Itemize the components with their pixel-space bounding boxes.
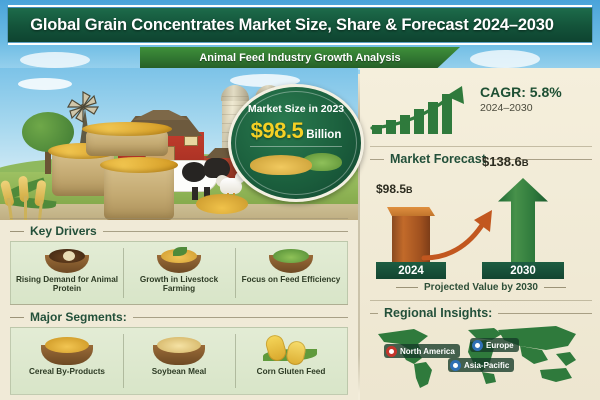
header-bottom-rule — [8, 43, 592, 45]
map-pin-north-america[interactable]: North America — [384, 344, 460, 358]
key-drivers-heading: Key Drivers — [10, 224, 348, 238]
corn-cobs-icon — [261, 333, 321, 365]
major-segment-label: Soybean Meal — [149, 367, 210, 376]
bar-2030-value: $138.6B — [482, 154, 529, 169]
bar-2024-label: 2024 — [376, 262, 446, 279]
key-driver-card[interactable]: Focus on Feed Efficiency — [235, 242, 347, 304]
pin-label: Europe — [486, 341, 514, 350]
regional-insights-title: Regional Insights: — [384, 306, 492, 320]
major-segment-label: Corn Gluten Feed — [254, 367, 329, 376]
pin-label: Asia-Pacific — [464, 361, 509, 370]
market-size-badge: Market Size in 2023 $98.5 Billion — [228, 84, 364, 202]
major-segments-title: Major Segments: — [30, 310, 127, 324]
key-drivers-title: Key Drivers — [30, 224, 97, 238]
pin-marker-icon — [472, 340, 483, 351]
major-segment-label: Cereal By-Products — [26, 367, 108, 376]
plate-of-feed-icon — [41, 247, 93, 273]
infographic-canvas: Global Grain Concentrates Market Size, S… — [0, 0, 600, 400]
cagr-block: CAGR: 5.8% 2024–2030 — [370, 80, 592, 136]
header-top-rule — [8, 5, 592, 7]
growth-curve-arrow — [420, 208, 512, 264]
pin-marker-icon — [450, 360, 461, 371]
regional-insights-block: Regional Insights: — [370, 306, 592, 392]
pin-marker-icon — [386, 346, 397, 357]
right-panel-content: CAGR: 5.8% 2024–2030 Market Forecast $98… — [360, 68, 600, 400]
key-drivers-cards: Rising Demand for Animal Protein Growth … — [10, 241, 348, 305]
key-driver-card[interactable]: Growth in Livestock Farming — [123, 242, 235, 304]
regional-insights-heading: Regional Insights: — [370, 306, 592, 320]
grain-sack-icon — [104, 166, 174, 220]
key-driver-label: Rising Demand for Animal Protein — [11, 275, 123, 294]
cagr-label: CAGR: 5.8% — [480, 84, 562, 100]
plate-of-peas-icon — [265, 247, 317, 273]
major-segment-card[interactable]: Cereal By-Products — [11, 328, 123, 394]
map-pin-europe[interactable]: Europe — [470, 338, 519, 352]
cagr-period: 2024–2030 — [480, 102, 562, 114]
plate-of-grain-icon — [153, 247, 205, 273]
major-segment-card[interactable]: Soybean Meal — [123, 328, 235, 394]
grain-and-peas-icon — [244, 151, 348, 177]
major-segments-block: Major Segments: Cereal By-Products Soybe… — [10, 310, 348, 395]
major-segments-heading: Major Segments: — [10, 310, 348, 324]
major-segments-cards: Cereal By-Products Soybean Meal Corn Glu… — [10, 327, 348, 395]
grain-heap-icon — [86, 130, 168, 156]
pin-label: North America — [400, 347, 455, 356]
map-pin-asia-pacific[interactable]: Asia-Pacific — [448, 358, 514, 372]
major-segment-card[interactable]: Corn Gluten Feed — [235, 328, 347, 394]
forecast-caption: Projected Value by 2030 — [370, 282, 592, 293]
key-driver-label: Focus on Feed Efficiency — [239, 275, 344, 284]
bar-2024-value: $98.5B — [376, 182, 413, 196]
key-driver-card[interactable]: Rising Demand for Animal Protein — [11, 242, 123, 304]
key-driver-label: Growth in Livestock Farming — [123, 275, 235, 294]
cagr-trend-chart — [370, 84, 482, 134]
key-drivers-block: Key Drivers Rising Demand for Animal Pro… — [10, 224, 348, 305]
bowl-of-cereal-icon — [37, 333, 97, 365]
subtitle-text: Animal Feed Industry Growth Analysis — [199, 52, 400, 64]
subtitle-ribbon: Animal Feed Industry Growth Analysis — [140, 47, 460, 68]
wheat-icon — [0, 164, 74, 220]
bar-2030-label: 2030 — [482, 262, 564, 279]
corn-pile-icon — [196, 194, 248, 214]
bowl-of-soybeans-icon — [149, 333, 209, 365]
page-title: Global Grain Concentrates Market Size, S… — [0, 8, 584, 42]
market-forecast-chart: $98.5B $138.6B 2024 2030 Projec — [370, 156, 592, 296]
